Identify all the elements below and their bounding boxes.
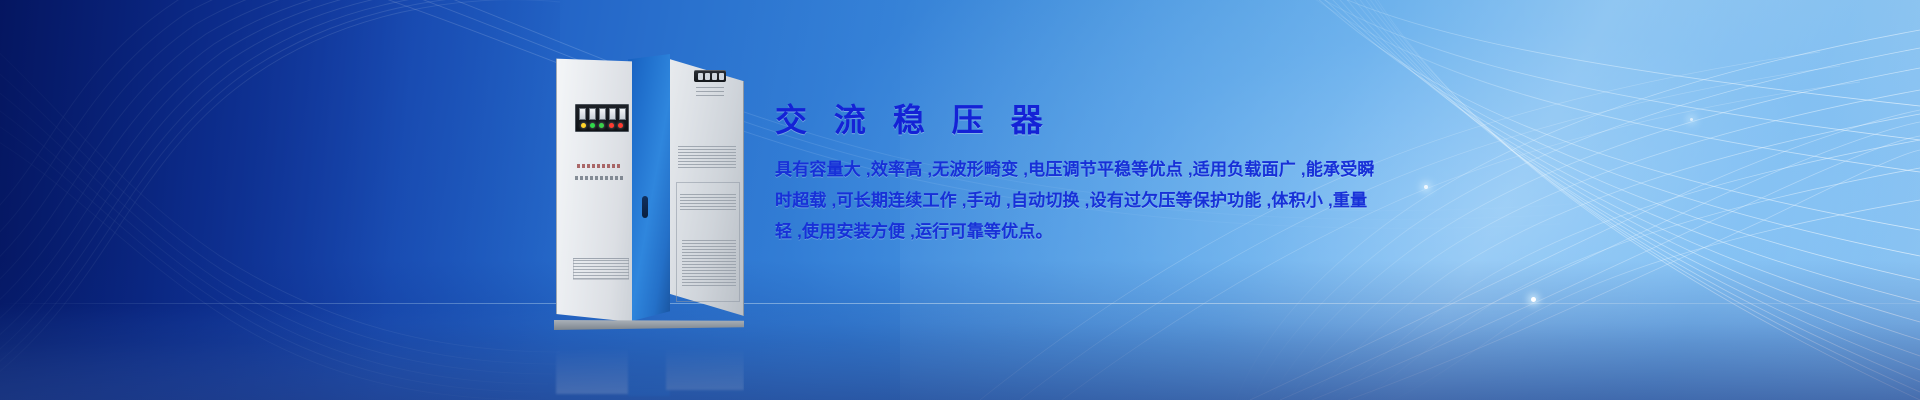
background-bottom-shade bbox=[0, 260, 1920, 400]
panel-meter bbox=[599, 108, 606, 120]
control-panel bbox=[575, 104, 629, 132]
side-model-text bbox=[696, 86, 724, 96]
description-line: 具有容量大 ,效率高 ,无波形畸变 ,电压调节平稳等优点 ,适用负载面广 ,能承… bbox=[775, 154, 1655, 185]
banner-description: 具有容量大 ,效率高 ,无波形畸变 ,电压调节平稳等优点 ,适用负载面广 ,能承… bbox=[775, 154, 1655, 247]
indicator-lamp bbox=[590, 123, 595, 128]
product-reflection bbox=[548, 338, 744, 400]
description-line: 时超载 ,可长期连续工作 ,手动 ,自动切换 ,设有过欠压等保护功能 ,体积小 … bbox=[775, 185, 1655, 216]
cabinet-base bbox=[554, 320, 744, 330]
banner-title: 交 流 稳 压 器 bbox=[775, 100, 1655, 140]
cabinet-front-panel bbox=[556, 56, 632, 322]
indicator-lamp bbox=[581, 123, 586, 128]
sparkle-dot bbox=[1690, 118, 1693, 121]
side-vent-grille bbox=[678, 144, 736, 168]
front-vent-grille bbox=[573, 258, 629, 280]
product-image bbox=[548, 44, 744, 340]
banner-copy: 交 流 稳 压 器 具有容量大 ,效率高 ,无波形畸变 ,电压调节平稳等优点 ,… bbox=[775, 100, 1655, 247]
side-display-badge bbox=[694, 70, 726, 82]
indicator-lamp bbox=[599, 123, 604, 128]
side-vent-grille bbox=[682, 240, 736, 286]
indicator-lamp bbox=[609, 123, 614, 128]
model-label bbox=[577, 164, 621, 168]
spec-label bbox=[575, 176, 625, 180]
panel-meter bbox=[619, 108, 626, 120]
cabinet-door bbox=[628, 54, 670, 322]
panel-meter bbox=[609, 108, 616, 120]
description-line: 轻 ,使用安装方便 ,运行可靠等优点。 bbox=[775, 216, 1655, 247]
door-handle bbox=[642, 196, 648, 218]
indicator-lamp bbox=[618, 123, 623, 128]
panel-meter bbox=[579, 108, 586, 120]
stabilizer-cabinet bbox=[548, 44, 744, 340]
product-banner: 交 流 稳 压 器 具有容量大 ,效率高 ,无波形畸变 ,电压调节平稳等优点 ,… bbox=[0, 0, 1920, 400]
panel-meter bbox=[589, 108, 596, 120]
sparkle-dot bbox=[1531, 297, 1536, 302]
